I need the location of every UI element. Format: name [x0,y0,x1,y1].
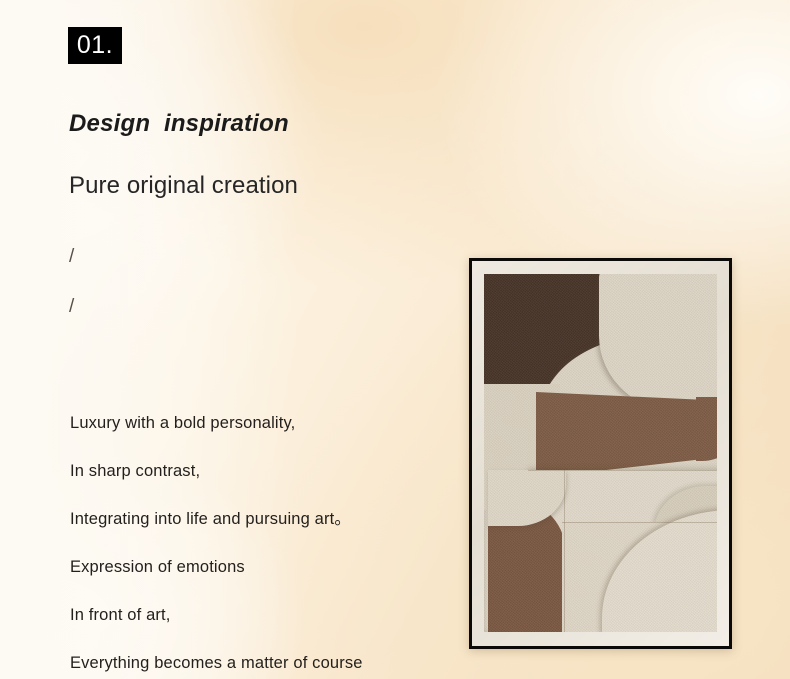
art-shape-mid-brown-cap [696,397,717,461]
art-seam-horizontal-lower [562,522,717,523]
artwork-mat [472,261,729,646]
section-index-badge: 01. [68,27,122,64]
artwork-canvas [484,274,717,632]
poem-line: Expression of emotions [70,543,460,591]
art-seam-horizontal-upper [528,470,717,471]
poem-line: Luxury with a bold personality, [70,399,460,447]
poem-line: Everything becomes a matter of course [70,639,460,679]
poem-line: In sharp contrast, [70,447,460,495]
page-subtitle: Pure original creation [69,172,298,200]
left-content-column: 01. Design inspiration Pure original cre… [68,0,468,679]
poem-line: In front of art, [70,591,460,639]
poem-line: Integrating into life and pursuing art。 [70,495,460,543]
divider-slash-2: / [69,296,74,318]
divider-slash-1: / [69,246,74,268]
poem-block: Luxury with a bold personality, In sharp… [70,399,460,679]
art-seam-vertical [564,470,565,632]
page-title: Design inspiration [69,110,289,138]
framed-artwork [469,258,732,649]
